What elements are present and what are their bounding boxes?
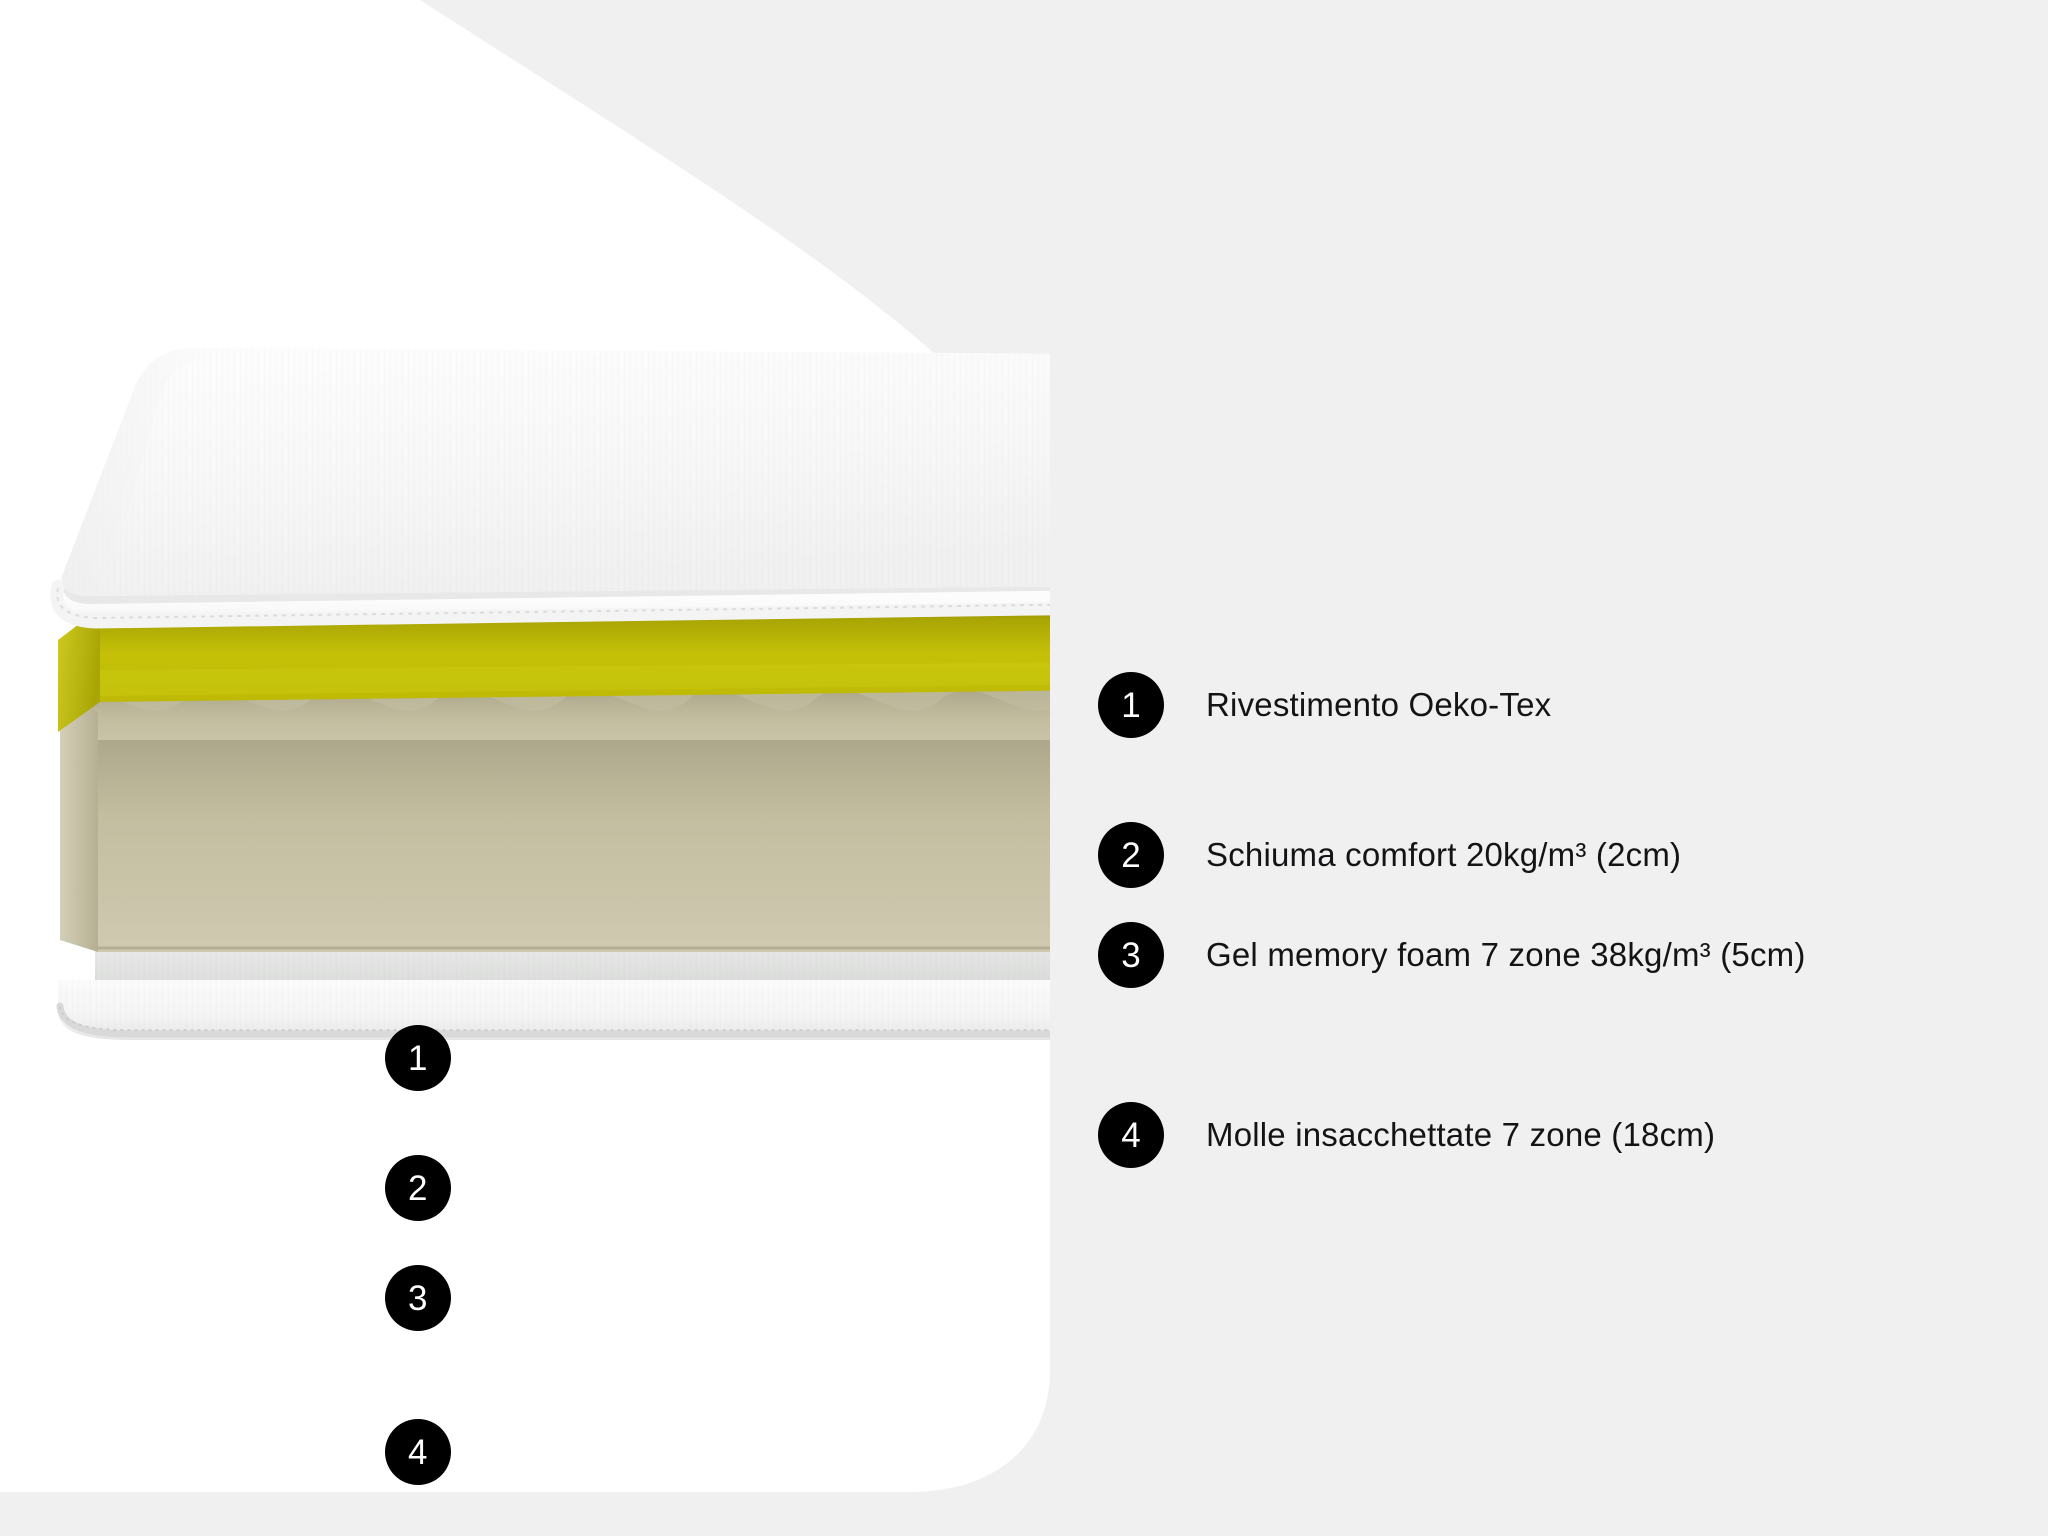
mattress-illustration: 1 2 3 4 (0, 340, 1060, 1500)
legend-item-2[interactable]: 2 Schiuma comfort 20kg/m³ (2cm) (1098, 822, 1681, 888)
layer-badge-3[interactable]: 3 (385, 1265, 451, 1331)
mattress-cover-layer (57, 348, 1060, 622)
legend-item-3[interactable]: 3 Gel memory foam 7 zone 38kg/m³ (5cm) (1098, 922, 1806, 988)
legend-badge-1: 1 (1098, 672, 1164, 738)
layer-legend: 1 Rivestimento Oeko-Tex 2 Schiuma comfor… (1098, 0, 1998, 1536)
infographic-canvas: 1 2 3 4 1 Rivestimento Oeko-Tex 2 Schium… (0, 0, 2048, 1536)
layer-badge-1[interactable]: 1 (385, 1025, 451, 1091)
legend-label-4: Molle insacchettate 7 zone (18cm) (1206, 1116, 1715, 1154)
legend-item-4[interactable]: 4 Molle insacchettate 7 zone (18cm) (1098, 1102, 1715, 1168)
mattress-base-layer (58, 946, 1060, 1040)
legend-badge-2: 2 (1098, 822, 1164, 888)
layer-badge-2[interactable]: 2 (385, 1155, 451, 1221)
legend-label-1: Rivestimento Oeko-Tex (1206, 686, 1551, 724)
legend-item-1[interactable]: 1 Rivestimento Oeko-Tex (1098, 672, 1551, 738)
legend-badge-4: 4 (1098, 1102, 1164, 1168)
legend-label-2: Schiuma comfort 20kg/m³ (2cm) (1206, 836, 1681, 874)
legend-badge-3: 3 (1098, 922, 1164, 988)
layer-badge-4[interactable]: 4 (385, 1419, 451, 1485)
legend-label-3: Gel memory foam 7 zone 38kg/m³ (5cm) (1206, 936, 1806, 974)
